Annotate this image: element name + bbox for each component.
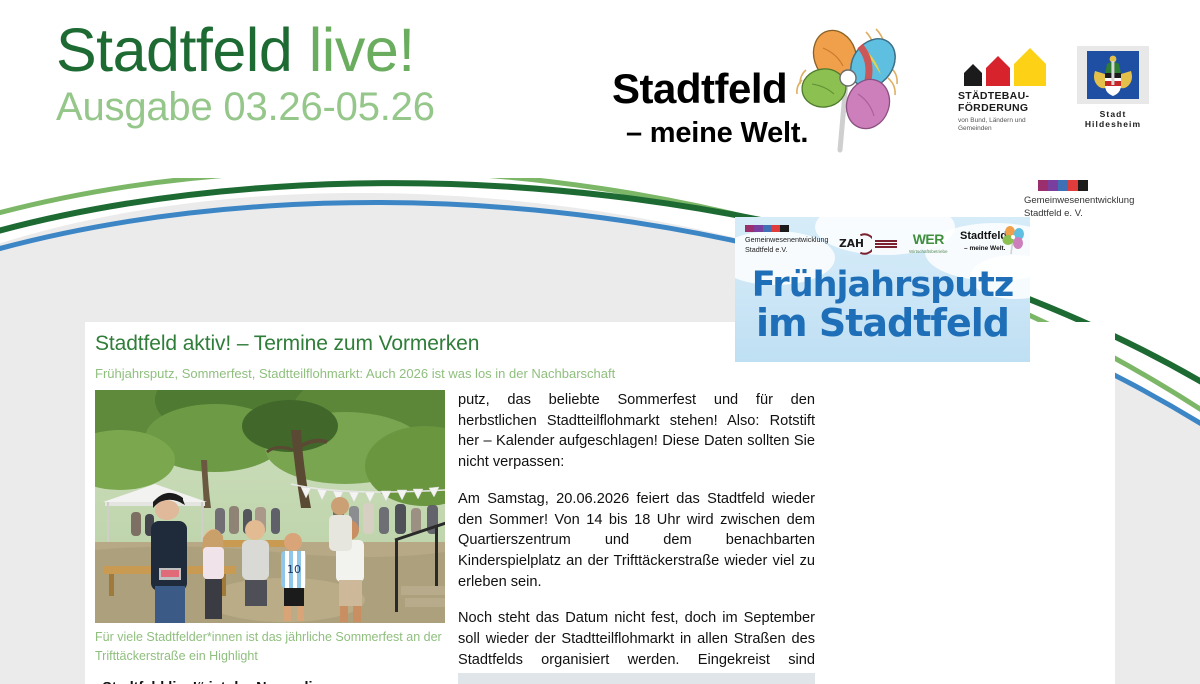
poster-title-line2: im Stadtfeld	[735, 305, 1030, 342]
poster-gwe-line1: Gemeinwesenentwicklung	[745, 235, 829, 245]
zah-logo: ZAH	[839, 225, 897, 255]
masthead: Stadtfeld live! Ausgabe 03.26-05.26	[56, 20, 435, 127]
stadtfeld-logo-text: Stadtfeld – meine Welt.	[612, 68, 808, 148]
staedtebau-subline: von Bund, Ländern und Gemeinden	[958, 117, 1050, 133]
article-paragraph-1: putz, das beliebte Sommerfest und für de…	[458, 390, 815, 473]
wer-sub: Wirtschaftsbetriebe	[907, 249, 951, 254]
article-header: Stadtfeld aktiv! – Termine zum Vormerken…	[95, 332, 795, 381]
pinwheel-balloons-icon	[790, 26, 900, 156]
wer-logo: WER Wirtschaftsbetriebe	[907, 225, 951, 254]
three-houses-icon	[958, 48, 1050, 86]
fruehjahrsputz-poster[interactable]: Gemeinwesenentwicklung Stadtfeld e.V. ZA…	[735, 217, 1030, 362]
house-red	[986, 56, 1010, 86]
gwe-line1: Gemeinwesenentwicklung	[1024, 195, 1184, 208]
left-column-continuation: „Stadtfeld live!“ ist der Name dieser St…	[95, 678, 447, 684]
color-bars-icon	[1038, 180, 1088, 191]
second-photo-partial	[458, 673, 815, 684]
poster-gwe-text: Gemeinwesenentwicklung Stadtfeld e.V.	[745, 235, 829, 254]
summer-festival-photo: 10	[95, 390, 445, 623]
stadt-hildesheim-logo: Stadt Hildesheim	[1071, 46, 1155, 129]
house-yellow	[1014, 48, 1046, 86]
house-black	[964, 64, 982, 86]
zah-lines-icon	[875, 240, 897, 248]
masthead-title-light: live!	[309, 16, 415, 84]
article-card: Stadtfeld aktiv! – Termine zum Vormerken…	[85, 322, 1115, 684]
hildesheim-caption: Stadt Hildesheim	[1071, 109, 1155, 129]
poster-title: Frühjahrsputz im Stadtfeld	[735, 269, 1030, 342]
gwe-text: Gemeinwesenentwicklung Stadtfeld e. V.	[1024, 195, 1184, 221]
gwe-line2: Stadtfeld e. V.	[1024, 208, 1184, 221]
hildesheim-frame	[1077, 46, 1149, 104]
page-header: Stadtfeld live! Ausgabe 03.26-05.26 Stad…	[0, 0, 1200, 178]
zah-mark-icon: ZAH	[839, 233, 872, 255]
poster-title-line1: Frühjahrsputz	[735, 269, 1030, 303]
stadtfeld-logo-line1: Stadtfeld	[612, 68, 808, 110]
color-bars-icon	[745, 225, 789, 232]
article-body-column: putz, das beliebte Sommerfest und für de…	[458, 390, 815, 684]
coat-of-arms-icon	[1087, 51, 1139, 99]
poster-partner-logos: Gemeinwesenentwicklung Stadtfeld e.V. ZA…	[745, 225, 1022, 255]
stadtfeld-logo-line2: – meine Welt.	[612, 119, 808, 148]
svg-text:ZAH: ZAH	[839, 237, 864, 250]
masthead-subtitle: Ausgabe 03.26-05.26	[56, 87, 435, 127]
gemeinwesenentwicklung-logo: Gemeinwesenentwicklung Stadtfeld e. V.	[1024, 180, 1184, 221]
staedtebau-line2: FÖRDERUNG	[958, 102, 1050, 114]
pinwheel-balloons-icon	[1000, 225, 1026, 255]
masthead-title: Stadtfeld live!	[56, 20, 435, 81]
poster-gwe-logo: Gemeinwesenentwicklung Stadtfeld e.V.	[745, 225, 829, 254]
svg-text:10: 10	[287, 563, 301, 576]
article-kicker: Frühjahrsputz, Sommerfest, Stadtteilfloh…	[95, 366, 795, 381]
staedtebaufoerderung-logo: STÄDTEBAU- FÖRDERUNG von Bund, Ländern u…	[958, 48, 1050, 134]
stadtfeld-meine-welt-logo: Stadtfeld – meine Welt.	[612, 58, 902, 168]
poster-stadtfeld-logo: Stadtfeld – meine Welt.	[960, 225, 1022, 252]
page-title: Stadtfeld aktiv! – Termine zum Vormerken	[95, 332, 795, 356]
staedtebau-title: STÄDTEBAU- FÖRDERUNG	[958, 90, 1050, 114]
newsletter-page: Stadtfeld live! Ausgabe 03.26-05.26 Stad…	[0, 0, 1200, 684]
photo-caption: Für viele Stadtfelder*innen ist das jähr…	[95, 628, 447, 666]
wer-mark: WER	[907, 231, 951, 247]
poster-gwe-line2: Stadtfeld e.V.	[745, 245, 829, 255]
staedtebau-line1: STÄDTEBAU-	[958, 90, 1050, 102]
masthead-title-dark: Stadtfeld	[56, 16, 292, 84]
article-paragraph-2: Am Samstag, 20.06.2026 feiert das Stadtf…	[458, 489, 815, 593]
